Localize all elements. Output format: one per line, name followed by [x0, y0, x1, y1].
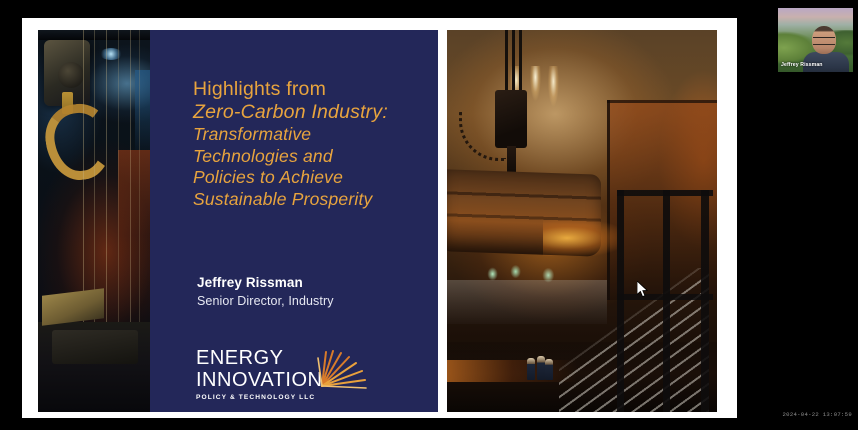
speaker-name: Jeffrey Rissman [197, 274, 427, 292]
crane-hook-photo [38, 30, 152, 412]
mill-photo-worker [545, 359, 553, 380]
mill-photo-hoist-ropes [503, 30, 527, 92]
mill-photo-worker [527, 358, 535, 380]
presentation-slide: Highlights from Zero-Carbon Industry: Tr… [22, 18, 737, 418]
title-line-2: Zero-Carbon Industry: [193, 101, 433, 124]
slide-title-panel: Highlights from Zero-Carbon Industry: Tr… [150, 30, 438, 412]
slide-title: Highlights from Zero-Carbon Industry: Tr… [193, 78, 433, 210]
webcam-person-glasses [813, 37, 835, 45]
recording-timestamp: 2024-04-22 13:07:59 [783, 411, 852, 418]
mill-photo-steel-structure [617, 190, 713, 412]
subtitle-line-3: Policies to Achieve [193, 167, 433, 189]
speaker-info: Jeffrey Rissman Senior Director, Industr… [197, 274, 427, 310]
screen-share-view: Highlights from Zero-Carbon Industry: Tr… [0, 0, 858, 430]
logo-line-1: ENERGY [196, 348, 326, 368]
speaker-role: Senior Director, Industry [197, 292, 427, 310]
logo-line-2: INNOVATION [196, 370, 326, 390]
subtitle-line-4: Sustainable Prosperity [193, 189, 433, 211]
subtitle-line-2: Technologies and [193, 146, 433, 168]
mill-photo-worker [537, 356, 545, 380]
title-line-1: Highlights from [193, 78, 433, 101]
mill-photo-hook [507, 146, 516, 174]
energy-innovation-logo: ENERGY INNOVATION POLICY & TECHNOLOGY LL… [196, 348, 378, 404]
mill-photo-floor-glow [447, 360, 577, 382]
sunburst-icon [312, 346, 370, 390]
steel-mill-photo [447, 30, 717, 412]
logo-tagline: POLICY & TECHNOLOGY LLC [196, 394, 326, 401]
logo-wordmark: ENERGY INNOVATION POLICY & TECHNOLOGY LL… [196, 348, 326, 401]
webcam-participant-name: Jeffrey Rissman [781, 62, 823, 68]
mill-photo-molten-glow [543, 220, 623, 256]
subtitle-line-1: Transformative [193, 124, 433, 146]
webcam-thumbnail[interactable]: Jeffrey Rissman [778, 8, 853, 72]
crane-photo-machinery [52, 330, 138, 364]
